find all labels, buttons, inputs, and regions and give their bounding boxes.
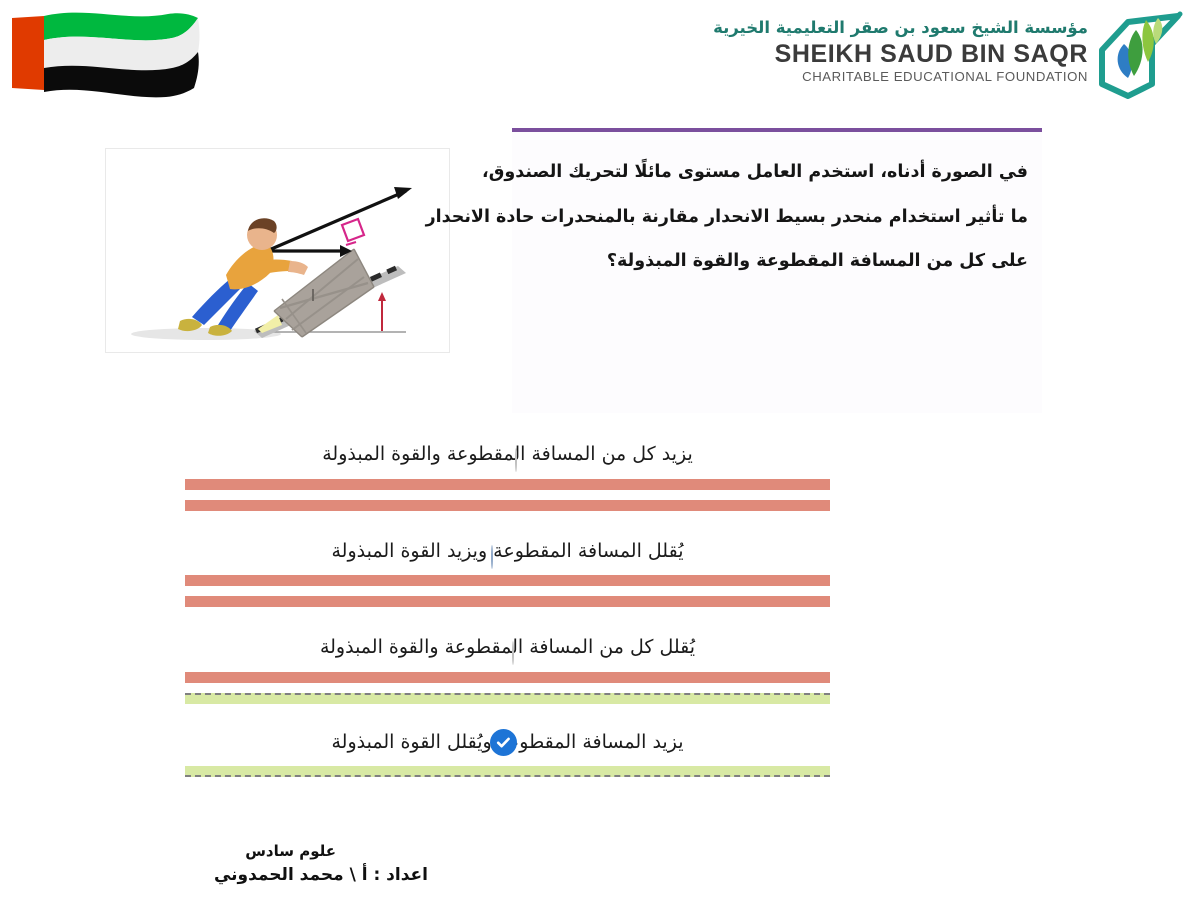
uae-flag	[8, 8, 213, 103]
radio-circle-icon[interactable]	[512, 639, 514, 668]
question-line-2: ما تأثير استخدام منحدر بسيط الانحدار مقا…	[522, 195, 1028, 240]
option-1-bars	[185, 469, 830, 511]
option-1-label: يزيد كل من المسافة المقطوعة والقوة المبذ…	[322, 443, 693, 465]
footer-subject: علوم سادس	[8, 840, 428, 863]
option-3-bar-bottom-correct	[185, 693, 830, 704]
option-2-bar-bottom	[185, 596, 830, 607]
brand-arabic-name: مؤسسة الشيخ سعود بن صقر التعليمية الخيري…	[668, 18, 1088, 39]
slide-header: مؤسسة الشيخ سعود بن صقر التعليمية الخيري…	[0, 0, 1200, 112]
radio-circle-icon[interactable]	[515, 446, 517, 475]
slide-page: مؤسسة الشيخ سعود بن صقر التعليمية الخيري…	[0, 0, 1200, 900]
slide-footer: علوم سادس اعداد : أ \ محمد الحمدوني	[8, 840, 428, 888]
option-1-bar-bottom	[185, 500, 830, 511]
answer-option-1[interactable]: يزيد كل من المسافة المقطوعة والقوة المبذ…	[0, 440, 1200, 511]
option-3-row[interactable]: يُقلل كل من المسافة المقطوعة والقوة المب…	[185, 633, 830, 662]
answer-option-4[interactable]: يزيد المسافة المقطوعة ويُقلل القوة المبذ…	[0, 728, 1200, 778]
answer-options-list: يزيد كل من المسافة المقطوعة والقوة المبذ…	[0, 440, 1200, 777]
option-2-row[interactable]: يُقلل المسافة المقطوعة ويزيد القوة المبذ…	[185, 537, 830, 566]
foundation-leaf-book-logo	[1094, 10, 1186, 102]
brand-english-tagline: CHARITABLE EDUCATIONAL FOUNDATION	[668, 69, 1088, 84]
option-2-label: يُقلل المسافة المقطوعة ويزيد القوة المبذ…	[332, 540, 684, 562]
option-1-row[interactable]: يزيد كل من المسافة المقطوعة والقوة المبذ…	[185, 440, 830, 469]
answer-option-2[interactable]: يُقلل المسافة المقطوعة ويزيد القوة المبذ…	[0, 537, 1200, 608]
option-3-bars	[185, 662, 830, 704]
option-4-bars	[185, 756, 830, 777]
option-2-bars	[185, 565, 830, 607]
brand-english-name: SHEIKH SAUD BIN SAQR	[668, 40, 1088, 68]
option-2-bar-top	[185, 575, 830, 586]
question-card: في الصورة أدناه، استخدم العامل مستوى مائ…	[512, 128, 1042, 413]
option-4-row[interactable]: يزيد المسافة المقطوعة ويُقلل القوة المبذ…	[185, 728, 830, 757]
footer-prepared-by: اعداد : أ \ محمد الحمدوني	[8, 863, 428, 889]
question-line-1: في الصورة أدناه، استخدم العامل مستوى مائ…	[522, 150, 1028, 195]
option-4-bar-bottom-correct	[185, 766, 830, 777]
radio-circle-icon[interactable]	[491, 543, 493, 572]
question-text: في الصورة أدناه، استخدم العامل مستوى مائ…	[512, 132, 1042, 284]
answer-option-3[interactable]: يُقلل كل من المسافة المقطوعة والقوة المب…	[0, 633, 1200, 704]
check-circle-icon[interactable]	[490, 729, 517, 756]
option-1-bar-top	[185, 479, 830, 490]
question-line-3: على كل من المسافة المقطوعة والقوة المبذو…	[522, 239, 1028, 284]
man-pushing-crate-up-ramp-image	[105, 148, 450, 353]
option-3-bar-top	[185, 672, 830, 683]
option-3-label: يُقلل كل من المسافة المقطوعة والقوة المب…	[320, 636, 695, 658]
foundation-brand: مؤسسة الشيخ سعود بن صقر التعليمية الخيري…	[668, 18, 1088, 84]
